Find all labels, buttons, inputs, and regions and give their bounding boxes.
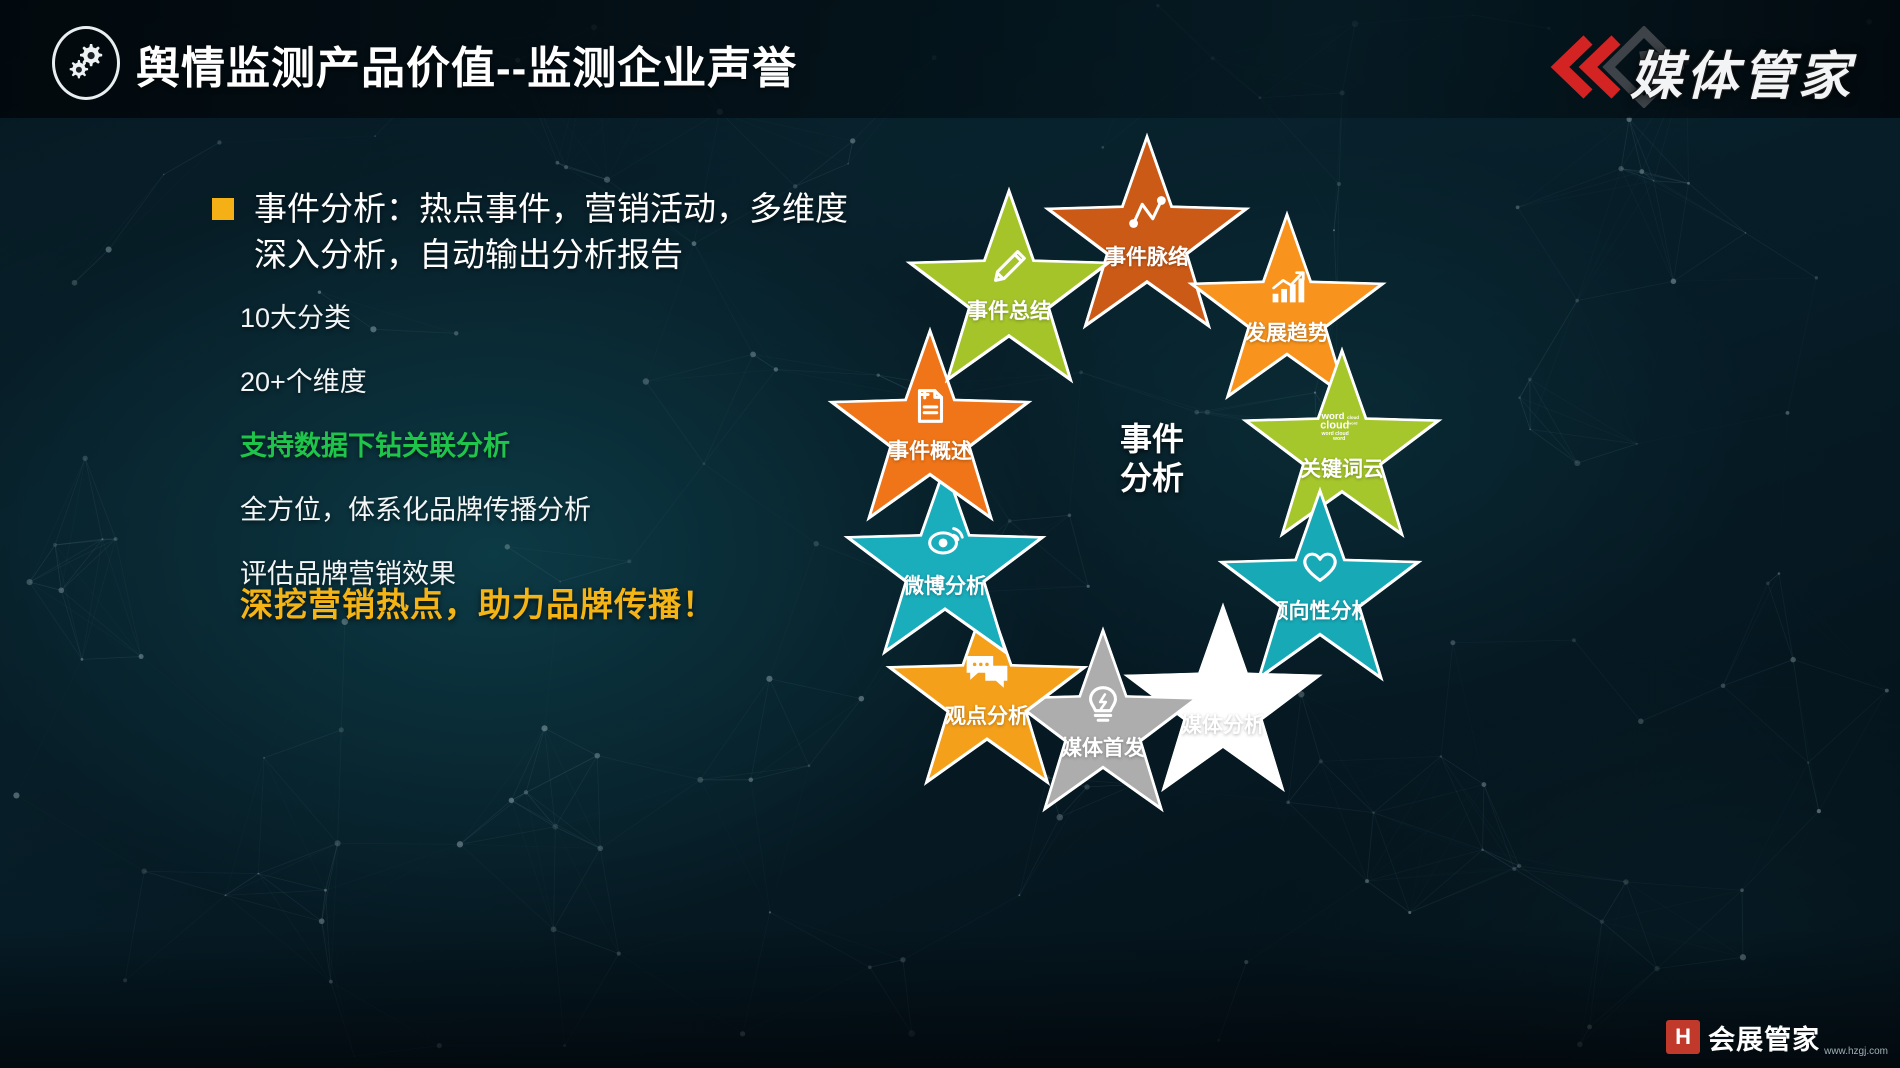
heart-icon [1297, 543, 1343, 589]
diagram-center-label: 事件 分析 [1062, 420, 1242, 498]
brand-logo: 媒体管家 [1544, 22, 1874, 108]
list-item-highlighted: 支持数据下钻关联分析 [240, 424, 860, 463]
highlight-statement: 深挖营销热点，助力品牌传播！ [240, 578, 716, 626]
weibo-eye-icon [922, 518, 968, 564]
page-title: 舆情监测产品价值--监测企业声誉 [136, 32, 797, 96]
star-ring-diagram: 事件 分析 事件脉络 发展趋势 word [830, 120, 1470, 820]
star-fill: 发展趋势 [1191, 215, 1383, 407]
star-label: 倾向性分析 [1267, 595, 1372, 625]
magnifier-icon [1200, 657, 1246, 703]
center-line-1: 事件 [1062, 420, 1242, 459]
center-line-2: 分析 [1062, 459, 1242, 498]
svg-text:word: word [1332, 436, 1345, 442]
watermark-text: 会展管家 [1708, 1018, 1820, 1057]
bullet-item: 事件分析：热点事件，营销活动，多维度深入分析，自动输出分析报告 [212, 186, 852, 277]
svg-text:cloud: cloud [1320, 420, 1349, 432]
watermark-mark-icon: H [1666, 1020, 1700, 1054]
gears-icon [52, 26, 120, 100]
list-item: 全方位，体系化品牌传播分析 [240, 488, 860, 527]
lightbulb-icon [1080, 680, 1126, 726]
footer-watermark: H 会展管家 www.hzgj.com [1666, 1014, 1888, 1060]
star-node[interactable]: 发展趋势 [1182, 206, 1392, 416]
watermark-subtext: www.hzgj.com [1824, 1046, 1888, 1060]
star-fill: 事件概述 [831, 331, 1029, 529]
star-fill: 媒体首发 [1009, 631, 1198, 820]
line-chart-node-icon [1124, 189, 1170, 235]
star-node[interactable]: word cloud cloud word word cloud word 关键… [1236, 342, 1448, 554]
square-bullet-icon [212, 198, 234, 220]
word-cloud-icon: word cloud cloud word word cloud word [1319, 401, 1365, 447]
star-label: 媒体首发 [1061, 732, 1145, 762]
star-label: 微博分析 [903, 570, 987, 600]
star-label: 事件概述 [888, 435, 972, 465]
sub-points-list: 10大分类 20+个维度 支持数据下钻关联分析 全方位，体系化品牌传播分析 评估… [240, 296, 860, 616]
star-label: 媒体分析 [1181, 709, 1265, 739]
svg-text:word: word [1347, 422, 1358, 426]
pencil-icon [986, 243, 1032, 289]
star-label: 发展趋势 [1245, 317, 1329, 347]
bottom-gradient [0, 928, 1900, 1068]
list-item: 10大分类 [240, 296, 860, 335]
star-label: 关键词云 [1300, 453, 1384, 483]
bullet-text: 事件分析：热点事件，营销活动，多维度深入分析，自动输出分析报告 [254, 186, 852, 277]
speech-bubbles-icon [964, 648, 1010, 694]
document-plus-icon [907, 383, 953, 429]
star-node[interactable]: 事件脉络 [1038, 128, 1256, 346]
star-fill: word cloud cloud word word cloud word 关键… [1245, 351, 1439, 545]
star-label: 事件脉络 [1105, 241, 1189, 271]
bar-chart-trend-icon [1264, 265, 1310, 311]
star-fill: 事件脉络 [1047, 137, 1247, 337]
logo-text: 媒体管家 [1630, 34, 1854, 109]
star-label: 事件总结 [967, 295, 1051, 325]
star-node[interactable]: 微博分析 [838, 458, 1052, 672]
list-item: 20+个维度 [240, 360, 860, 399]
star-label: 观点分析 [945, 700, 1029, 730]
slide-canvas: 舆情监测产品价值--监测企业声誉 媒体管家 事件分析：热点事件，营销活动，多维度… [0, 0, 1900, 1068]
